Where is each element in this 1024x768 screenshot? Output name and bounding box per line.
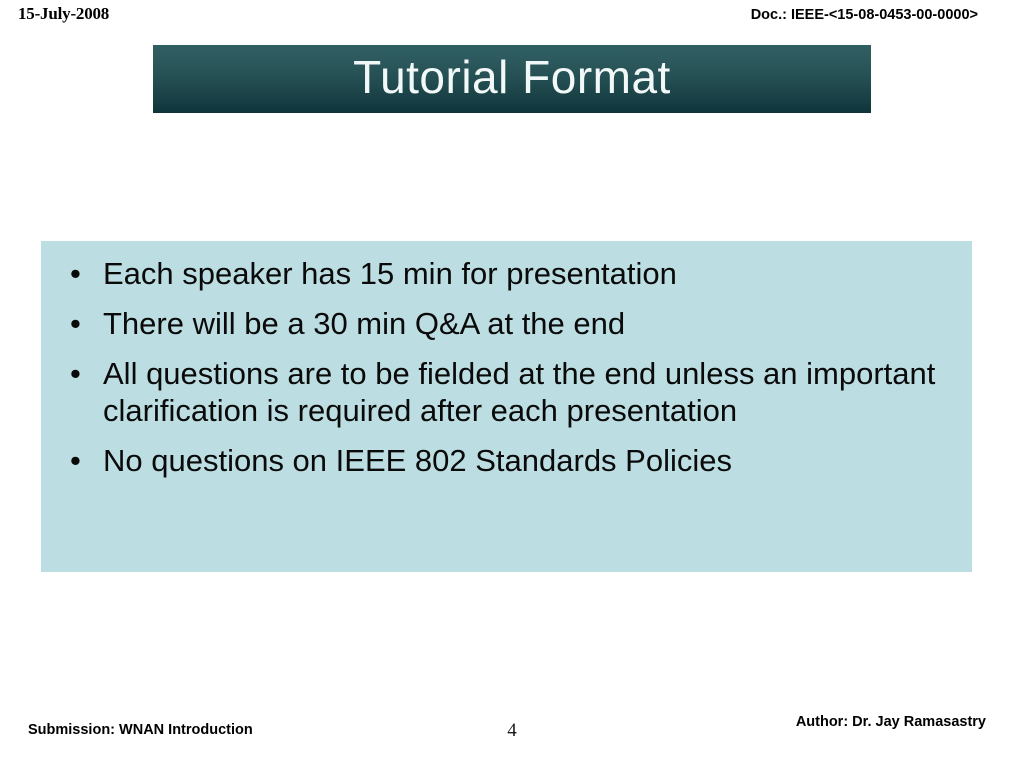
bullet-point-icon: • [70, 442, 81, 480]
list-item: • All questions are to be fielded at the… [55, 355, 954, 431]
list-item: • No questions on IEEE 802 Standards Pol… [55, 442, 954, 480]
header-date: 15-July-2008 [18, 4, 109, 24]
footer-author: Author: Dr. Jay Ramasastry [796, 714, 986, 730]
bullet-point-icon: • [70, 355, 81, 393]
bullet-point-icon: • [70, 255, 81, 293]
list-item-text: No questions on IEEE 802 Standards Polic… [103, 442, 954, 480]
bullet-list: • Each speaker has 15 min for presentati… [55, 255, 954, 480]
list-item: • Each speaker has 15 min for presentati… [55, 255, 954, 293]
slide: 15-July-2008 Doc.: IEEE-<15-08-0453-00-0… [0, 0, 1024, 768]
bullet-point-icon: • [70, 305, 81, 343]
list-item-text: All questions are to be fielded at the e… [103, 355, 954, 431]
title-banner: Tutorial Format [153, 45, 871, 113]
list-item-text: Each speaker has 15 min for presentation [103, 255, 954, 293]
header-doc-reference: Doc.: IEEE-<15-08-0453-00-0000> [751, 7, 978, 23]
list-item-text: There will be a 30 min Q&A at the end [103, 305, 954, 343]
list-item: • There will be a 30 min Q&A at the end [55, 305, 954, 343]
page-title: Tutorial Format [353, 54, 671, 105]
content-box: • Each speaker has 15 min for presentati… [41, 241, 972, 572]
